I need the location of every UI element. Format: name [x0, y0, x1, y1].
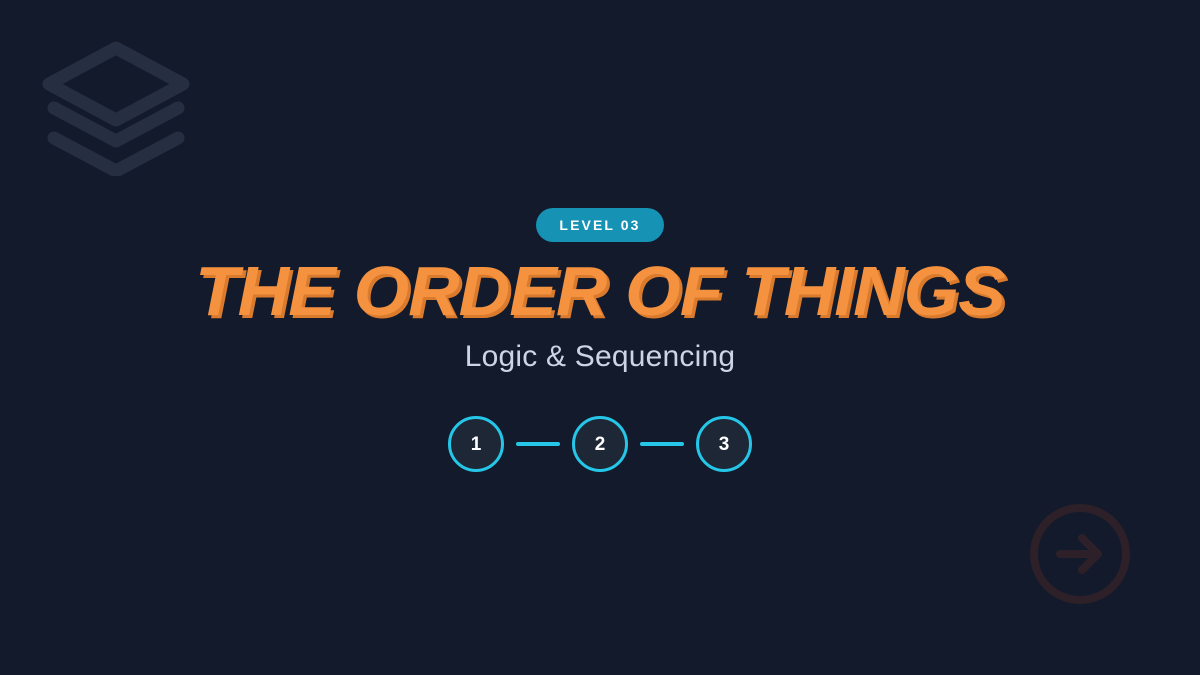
step-node-label: 3 — [719, 435, 730, 454]
slide-canvas: LEVEL 03 THE ORDER OF THINGS Logic & Seq… — [0, 0, 1200, 675]
step-connector-2-3 — [640, 442, 684, 446]
step-indicator: 1 2 3 — [448, 416, 752, 472]
step-connector-1-2 — [516, 442, 560, 446]
slide-content: LEVEL 03 THE ORDER OF THINGS Logic & Seq… — [0, 0, 1200, 675]
page-title: THE ORDER OF THINGS — [195, 256, 1005, 326]
level-badge: LEVEL 03 — [536, 208, 663, 242]
page-subtitle: Logic & Sequencing — [465, 342, 735, 372]
step-node-2[interactable]: 2 — [572, 416, 628, 472]
step-node-3[interactable]: 3 — [696, 416, 752, 472]
step-node-label: 1 — [471, 435, 482, 454]
step-node-1[interactable]: 1 — [448, 416, 504, 472]
step-node-label: 2 — [595, 435, 606, 454]
